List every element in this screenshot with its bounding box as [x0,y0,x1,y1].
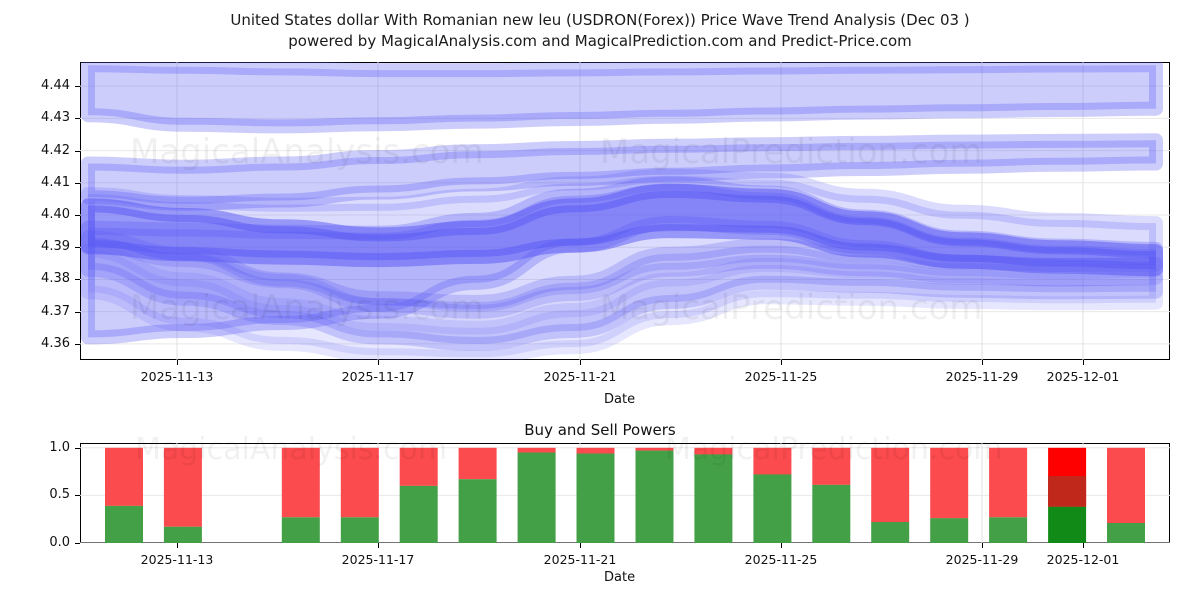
x-tick [378,360,379,365]
price-xaxis-title: Date [604,392,635,407]
y-tick-label: 4.39 [18,239,70,254]
y-tick [75,183,80,184]
x-tick [781,360,782,365]
x-tick-label: 2025-11-21 [538,552,622,567]
y-tick [75,448,80,449]
y-tick [75,118,80,119]
price-wave-bands [80,62,1170,360]
signal-axis-label: Signal Strength [0,424,1,524]
x-tick [982,360,983,365]
x-tick [378,543,379,548]
x-tick-label: 2025-11-17 [336,369,420,384]
title-line-2: powered by MagicalAnalysis.com and Magic… [0,31,1200,52]
y-tick-label: 4.43 [18,110,70,125]
y-tick-label: 4.40 [18,207,70,222]
y-tick [75,344,80,345]
y-tick [75,86,80,87]
y-tick [75,279,80,280]
power-bar [812,448,850,543]
power-bars [80,443,1170,543]
x-tick-label: 2025-11-13 [135,369,219,384]
page-title: United States dollar With Romanian new l… [0,10,1200,52]
x-tick-label: 2025-11-29 [940,552,1024,567]
price-wave-chart [80,62,1170,360]
x-tick-label: 2025-11-13 [135,552,219,567]
power-bar [282,448,320,543]
y-tick-label: 0.0 [22,535,70,550]
power-bar [694,448,732,543]
x-tick [177,543,178,548]
power-xaxis-title: Date [604,570,635,585]
x-tick-label: 2025-11-29 [940,369,1024,384]
power-bar [341,448,379,543]
y-tick [75,151,80,152]
wave-band [88,65,1156,126]
power-bar [518,448,556,543]
y-tick-label: 4.38 [18,271,70,286]
power-bar [989,448,1027,543]
y-tick-label: 4.37 [18,304,70,319]
power-bar [930,448,968,543]
x-tick [1083,360,1084,365]
power-bar [871,448,909,543]
y-tick [75,215,80,216]
y-tick [75,312,80,313]
x-tick [1083,543,1084,548]
x-tick [781,543,782,548]
power-bar [105,448,143,543]
x-tick [177,360,178,365]
x-tick-label: 2025-11-17 [336,552,420,567]
power-bar [577,448,615,543]
price-axis-label: Price [0,164,1,196]
power-bar [164,448,202,543]
power-bar [753,448,791,543]
title-line-1: United States dollar With Romanian new l… [0,10,1200,31]
x-tick-label: 2025-11-25 [739,552,823,567]
x-tick [982,543,983,548]
power-bar [459,448,497,543]
power-bar [400,448,438,543]
y-tick-label: 0.5 [22,487,70,502]
power-bar [1048,448,1086,543]
chart-page: United States dollar With Romanian new l… [0,0,1200,600]
x-tick-label: 2025-11-21 [538,369,622,384]
y-tick-label: 1.0 [22,440,70,455]
y-tick [75,247,80,248]
x-tick-label: 2025-12-01 [1041,552,1125,567]
y-tick [75,495,80,496]
y-tick-label: 4.44 [18,78,70,93]
y-tick-label: 4.42 [18,143,70,158]
power-bar [1107,448,1145,543]
x-tick-label: 2025-11-25 [739,369,823,384]
y-tick [75,543,80,544]
buy-sell-powers-chart [80,443,1170,543]
x-tick [580,543,581,548]
x-tick [580,360,581,365]
y-tick-label: 4.41 [18,175,70,190]
power-chart-title: Buy and Sell Powers [0,421,1200,439]
power-bar [636,448,674,543]
x-tick-label: 2025-12-01 [1041,369,1125,384]
y-tick-label: 4.36 [18,336,70,351]
